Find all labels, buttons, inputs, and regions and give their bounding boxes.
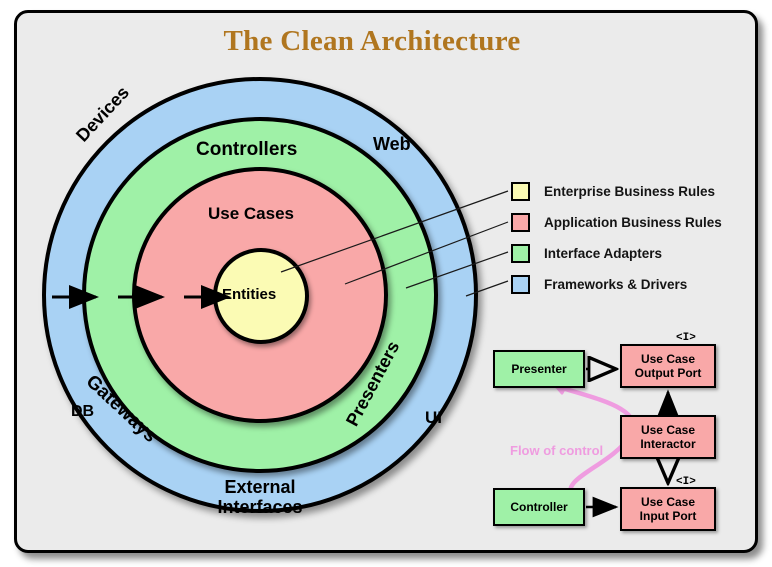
output-port-line-1: Use Case (641, 352, 695, 366)
legend-item-application-business-rules: Application Business Rules (511, 209, 751, 236)
ring-label-controllers: Controllers (196, 139, 297, 160)
ring-label-entities: Entities (222, 287, 276, 304)
diagram-page: The Clean Architecture Controllers Use C… (0, 0, 772, 567)
flow-box-output-port-label: Use Case Output Port (635, 352, 702, 381)
legend-swatch-enterprise (511, 182, 530, 201)
external-line-2: Interfaces (217, 497, 302, 517)
legend-label-interface-adapters: Interface Adapters (544, 246, 662, 261)
legend-swatch-frameworks (511, 275, 530, 294)
ring-label-ui: UI (425, 408, 442, 427)
flow-box-use-case-output-port: Use Case Output Port (620, 344, 716, 388)
input-port-line-2: Input Port (640, 509, 697, 523)
interface-tag-output-port: <I> (676, 332, 696, 344)
interface-tag-input-port: <I> (676, 476, 696, 488)
flow-box-interactor-label: Use Case Interactor (640, 423, 695, 452)
output-port-line-2: Output Port (635, 366, 702, 380)
legend: Enterprise Business Rules Application Bu… (511, 178, 751, 302)
legend-label-enterprise: Enterprise Business Rules (544, 184, 715, 199)
legend-swatch-interface-adapters (511, 244, 530, 263)
flow-box-use-case-interactor: Use Case Interactor (620, 415, 716, 459)
ring-label-external-interfaces: External Interfaces (198, 477, 322, 517)
legend-item-frameworks-and-drivers: Frameworks & Drivers (511, 271, 751, 298)
legend-item-enterprise-business-rules: Enterprise Business Rules (511, 178, 751, 205)
ring-label-web: Web (373, 134, 411, 154)
flow-box-presenter: Presenter (493, 350, 585, 388)
flow-of-control-label: Flow of control (510, 443, 603, 458)
flow-box-use-case-input-port: Use Case Input Port (620, 487, 716, 531)
legend-label-frameworks: Frameworks & Drivers (544, 277, 687, 292)
ring-label-db: DB (71, 403, 94, 421)
legend-label-application: Application Business Rules (544, 215, 722, 230)
ring-label-use-cases: Use Cases (208, 204, 294, 223)
interactor-line-2: Interactor (640, 437, 695, 451)
flow-box-controller-label: Controller (510, 500, 567, 514)
legend-swatch-application (511, 213, 530, 232)
flow-box-presenter-label: Presenter (511, 362, 566, 376)
flow-box-controller: Controller (493, 488, 585, 526)
legend-item-interface-adapters: Interface Adapters (511, 240, 751, 267)
external-line-1: External (224, 477, 295, 497)
interactor-line-1: Use Case (641, 423, 695, 437)
page-title: The Clean Architecture (0, 25, 744, 58)
flow-box-input-port-label: Use Case Input Port (640, 495, 697, 524)
input-port-line-1: Use Case (641, 495, 695, 509)
